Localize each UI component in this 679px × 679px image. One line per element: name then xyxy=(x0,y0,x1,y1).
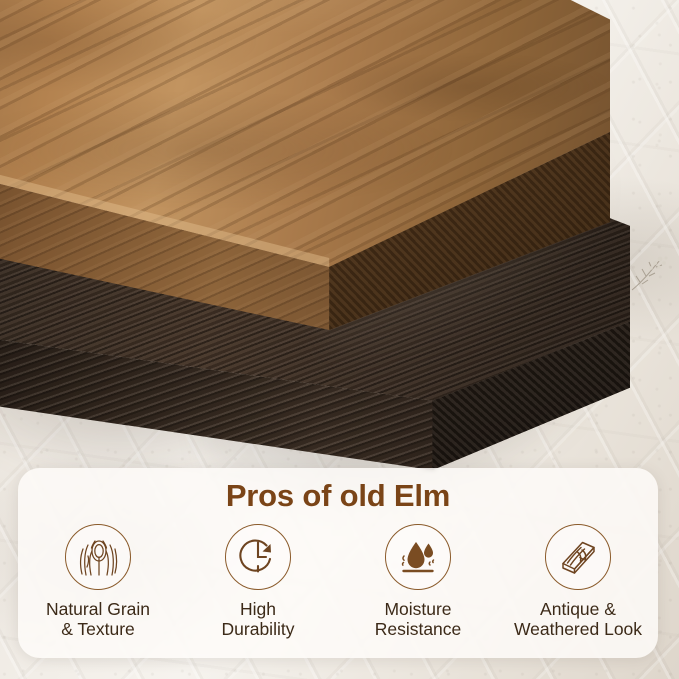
water-droplet-icon xyxy=(385,524,451,590)
product-photo-scene: Pros of old Elm xyxy=(0,0,679,679)
panel-title: Pros of old Elm xyxy=(18,478,658,514)
features-list: Natural Grain & Texture High Durabilit xyxy=(18,524,658,640)
clock-rotate-icon xyxy=(225,524,291,590)
feature-high-durability[interactable]: High Durability xyxy=(178,524,338,640)
wood-plank-icon xyxy=(545,524,611,590)
feature-label: Moisture Resistance xyxy=(375,599,462,640)
wood-grain-icon xyxy=(65,524,131,590)
feature-natural-grain[interactable]: Natural Grain & Texture xyxy=(18,524,178,640)
features-panel: Pros of old Elm xyxy=(18,468,658,658)
feature-moisture-resistance[interactable]: Moisture Resistance xyxy=(338,524,498,640)
feature-antique-weathered[interactable]: Antique & Weathered Look xyxy=(498,524,658,640)
feature-label: High Durability xyxy=(222,599,295,640)
feature-label: Natural Grain & Texture xyxy=(46,599,150,640)
feature-label: Antique & Weathered Look xyxy=(514,599,642,640)
light-wood-board xyxy=(0,0,610,330)
